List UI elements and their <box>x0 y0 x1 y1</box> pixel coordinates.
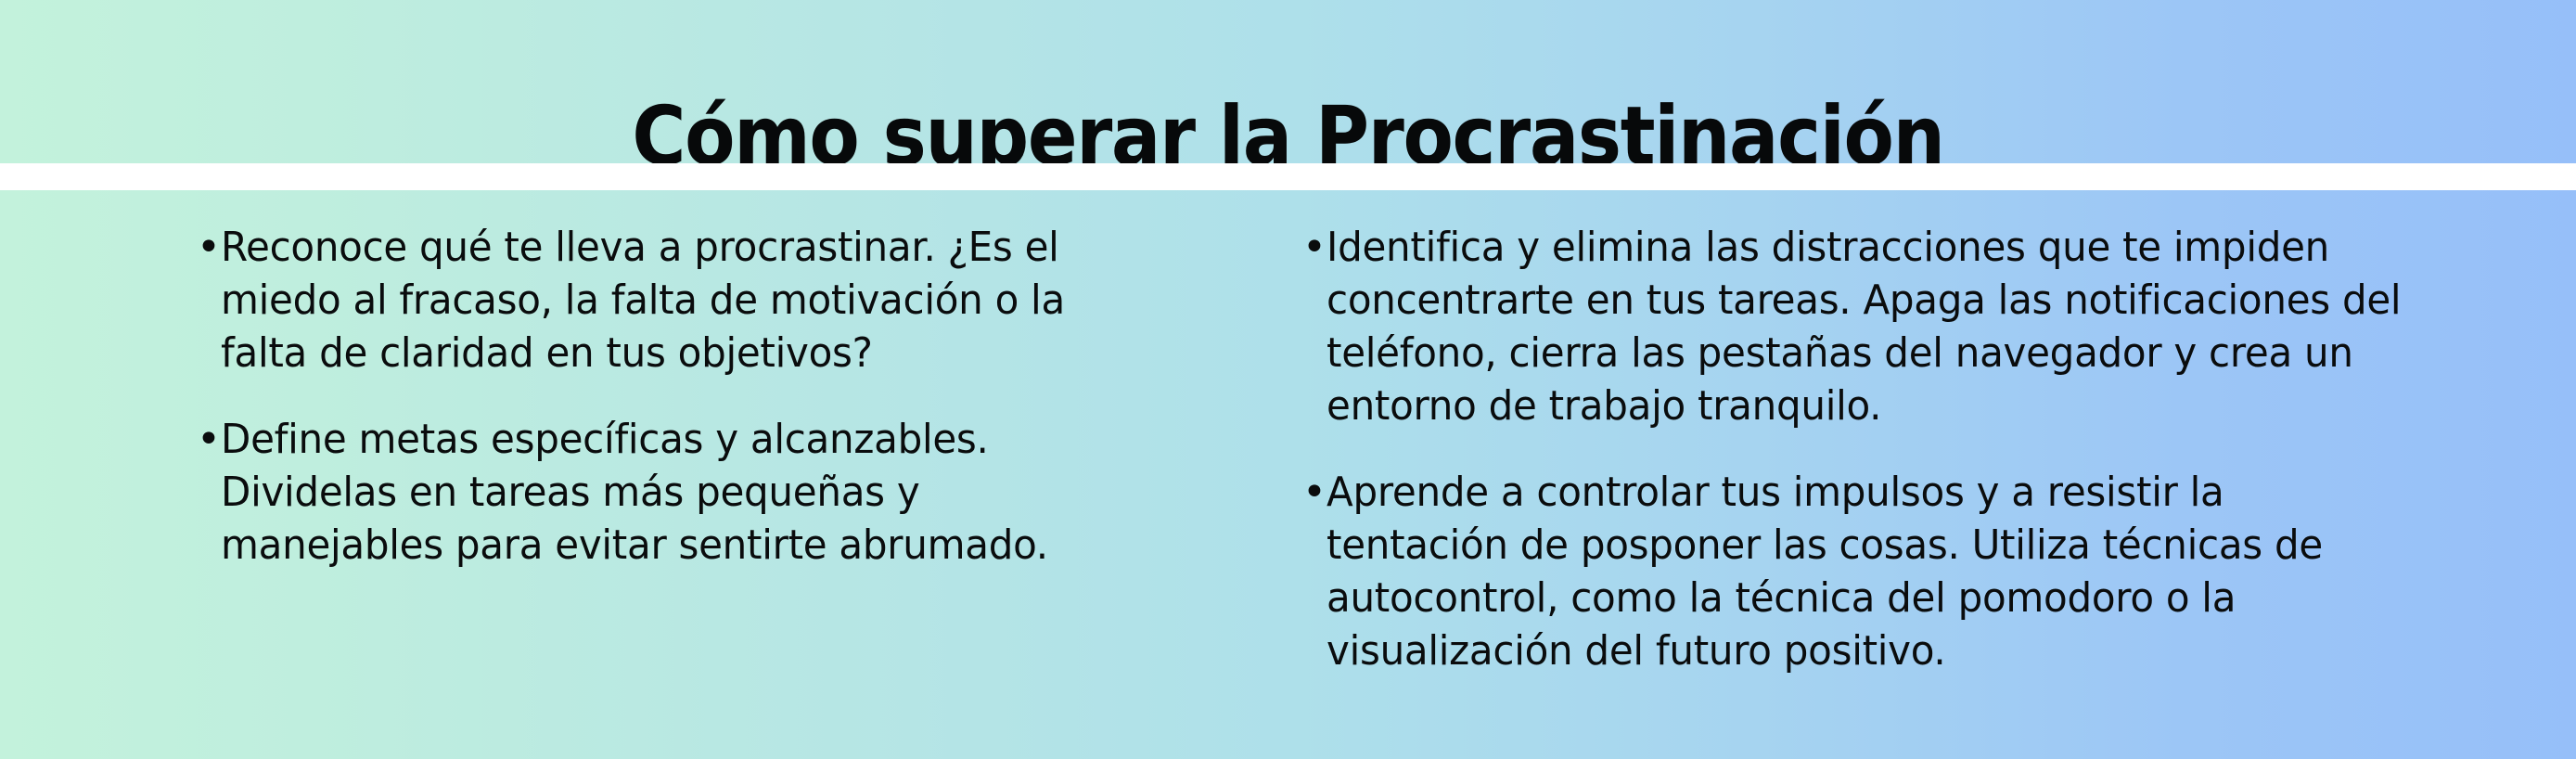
bullet-dot-icon: • <box>197 413 221 466</box>
bullet-text: Identifica y elimina las distracciones q… <box>1326 221 2406 432</box>
bullet-text: Define metas específicas y alcanzables. … <box>221 413 1110 572</box>
bullet-dot-icon: • <box>1302 466 1326 519</box>
band-separator <box>0 163 2576 190</box>
bullet-columns: • Reconoce qué te lleva a procrastinar. … <box>0 190 2576 759</box>
list-item: • Reconoce qué te lleva a procrastinar. … <box>197 221 1152 379</box>
bullet-text: Reconoce qué te lleva a procrastinar. ¿E… <box>221 221 1110 379</box>
bullet-column-left: • Reconoce qué te lleva a procrastinar. … <box>197 221 1152 572</box>
bullet-dot-icon: • <box>197 221 221 274</box>
bullet-column-right: • Identifica y elimina las distracciones… <box>1302 221 2457 677</box>
bullet-text: Aprende a controlar tus impulsos y a res… <box>1326 466 2406 677</box>
slide-canvas: Cómo superar la Procrastinación • Recono… <box>0 0 2576 759</box>
list-item: • Define metas específicas y alcanzables… <box>197 413 1152 572</box>
list-item: • Identifica y elimina las distracciones… <box>1302 221 2457 432</box>
bullet-dot-icon: • <box>1302 221 1326 274</box>
list-item: • Aprende a controlar tus impulsos y a r… <box>1302 466 2457 677</box>
